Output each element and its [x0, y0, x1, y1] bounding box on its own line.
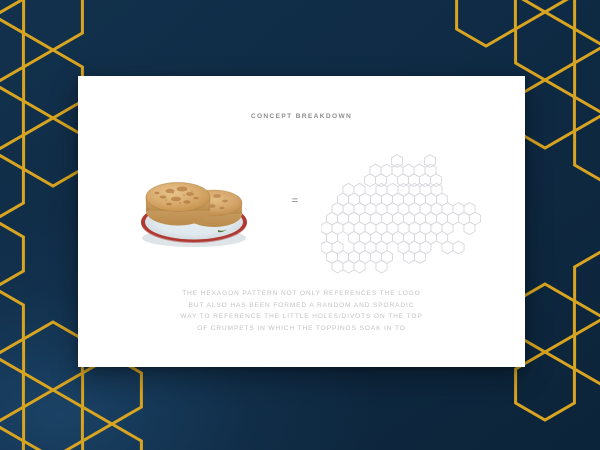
- page-title: CONCEPT BREAKDOWN: [78, 113, 525, 120]
- equals-sign: =: [284, 196, 306, 207]
- caption-block: THE HEXAGON PATTERN NOT ONLY REFERENCES …: [78, 288, 525, 335]
- slide-canvas: CONCEPT BREAKDOWN: [0, 0, 600, 450]
- slide-card: CONCEPT BREAKDOWN: [78, 76, 525, 367]
- caption-line-2: BUT ALSO HAS BEEN FORMED A RANDOM AND SP…: [78, 300, 525, 312]
- caption-line-3: WAY TO REFERENCE THE LITTLE HOLES/DIVOTS…: [78, 311, 525, 323]
- concept-equation-row: =: [78, 148, 525, 268]
- caption-line-1: THE HEXAGON PATTERN NOT ONLY REFERENCES …: [78, 288, 525, 300]
- crumpets-photo: [126, 162, 262, 254]
- caption-line-4: OF CRUMPETS IN WHICH THE TOPPINGS SOAK I…: [78, 323, 525, 335]
- hexagon-cluster-diagram: [321, 145, 489, 293]
